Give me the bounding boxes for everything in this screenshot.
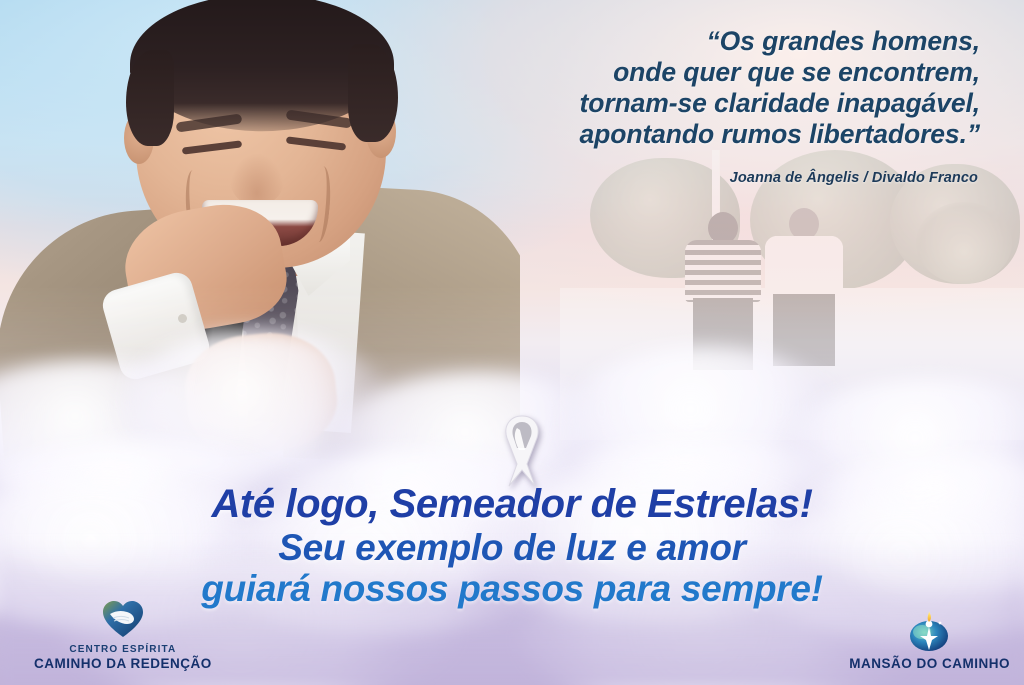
- logo-left-line-1: CENTRO ESPÍRITA: [69, 644, 176, 656]
- background-person-torso: [765, 236, 843, 298]
- headline-block: Até logo, Semeador de Estrelas! Seu exem…: [0, 484, 1024, 607]
- background-scene-photo: [560, 150, 1024, 440]
- background-person-legs: [693, 298, 753, 370]
- white-ribbon-icon: [487, 408, 557, 490]
- background-palm: [916, 202, 1012, 284]
- quote-line-3: tornam-se claridade inapagável,: [360, 88, 980, 119]
- background-person-white: [765, 208, 843, 366]
- cuff-button: [178, 314, 187, 323]
- globe-figure-flame-icon: [907, 610, 953, 654]
- background-person-torso: [685, 240, 761, 302]
- background-person-striped: [685, 212, 761, 364]
- logo-right-line-1: MANSÃO DO CAMINHO: [849, 656, 1010, 671]
- memorial-poster: “Os grandes homens, onde quer que se enc…: [0, 0, 1024, 685]
- logo-centro-espirita-caminho-da-redencao: CENTRO ESPÍRITA CAMINHO DA REDENÇÃO: [34, 600, 212, 671]
- quote-line-4: apontando rumos libertadores.”: [360, 119, 980, 150]
- logo-left-line-2: CAMINHO DA REDENÇÃO: [34, 656, 212, 671]
- heart-with-hands-icon: [101, 600, 145, 640]
- background-person-legs: [773, 294, 835, 366]
- quote-block: “Os grandes homens, onde quer que se enc…: [360, 26, 980, 150]
- headline-line-1: Até logo, Semeador de Estrelas!: [0, 484, 1024, 525]
- quote-line-2: onde quer que se encontrem,: [360, 57, 980, 88]
- quote-attribution: Joanna de Ângelis / Divaldo Franco: [478, 170, 978, 186]
- headline-line-2: Seu exemplo de luz e amor: [0, 529, 1024, 567]
- hair-side-left: [126, 50, 174, 146]
- quote-line-1: “Os grandes homens,: [360, 26, 980, 57]
- logo-mansao-do-caminho: MANSÃO DO CAMINHO: [849, 610, 1010, 671]
- nose: [230, 154, 284, 206]
